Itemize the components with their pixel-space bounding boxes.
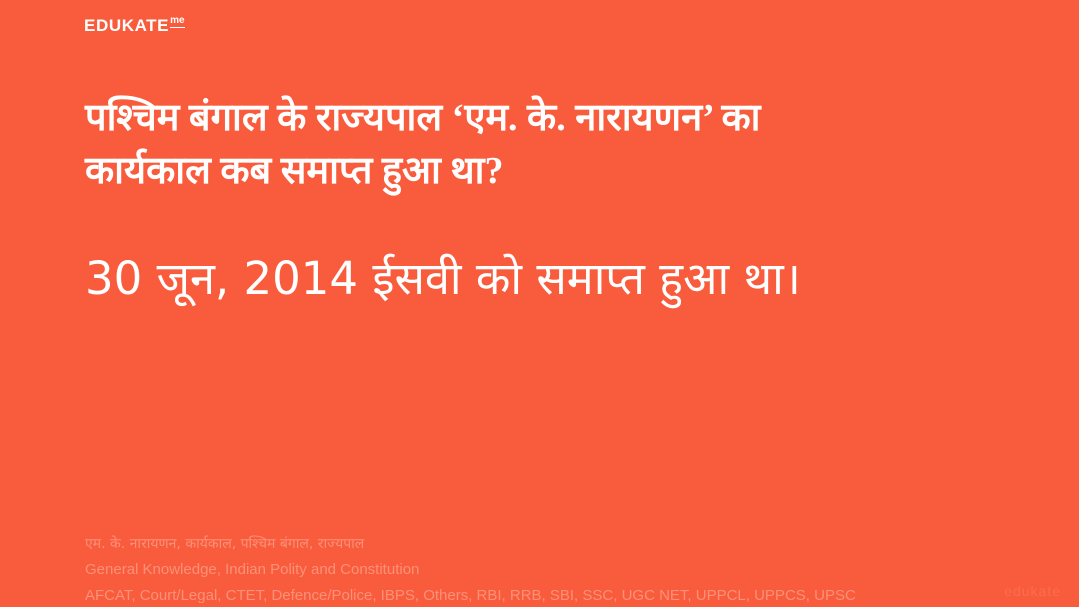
question-line-1: पश्चिम बंगाल के राज्यपाल ‘एम. के. नारायण… [85,92,985,145]
watermark: edukate [1004,583,1061,599]
footer-tags-hindi: एम. के. नारायणन, कार्यकाल, पश्चिम बंगाल,… [85,531,1025,557]
answer-line-1: 30 जून, 2014 ईसवी को समाप्त हुआ था। [85,248,1035,310]
footer-block: एम. के. नारायणन, कार्यकाल, पश्चिम बंगाल,… [85,531,1025,607]
slide-canvas: EDUKATE me पश्चिम बंगाल के राज्यपाल ‘एम.… [0,0,1079,607]
brand-logo[interactable]: EDUKATE me [84,17,185,34]
footer-exams: AFCAT, Court/Legal, CTET, Defence/Police… [85,583,1025,607]
footer-subjects: General Knowledge, Indian Polity and Con… [85,557,1025,583]
brand-logo-superscript: me [170,16,184,28]
question-block: पश्चिम बंगाल के राज्यपाल ‘एम. के. नारायण… [85,92,985,198]
answer-block: 30 जून, 2014 ईसवी को समाप्त हुआ था। [85,248,1035,310]
brand-logo-text: EDUKATE [84,17,169,34]
question-line-2: कार्यकाल कब समाप्त हुआ था? [85,145,985,198]
